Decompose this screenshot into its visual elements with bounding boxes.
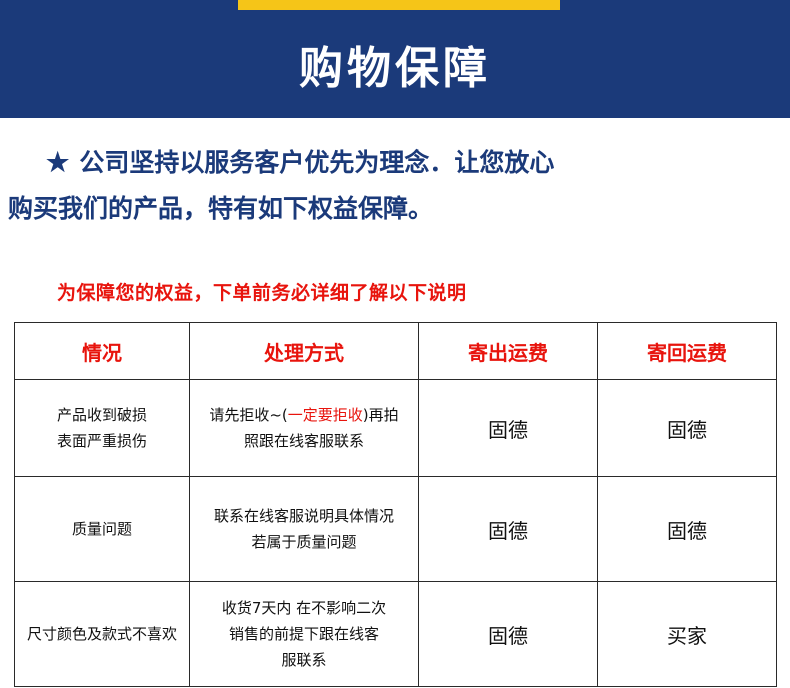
policy-table: 情况 处理方式 寄出运费 寄回运费 产品收到破损 表面严重损伤 请先拒收~(一定… — [14, 322, 777, 687]
table-row: 尺寸颜色及款式不喜欢 收货7天内 在不影响二次 销售的前提下跟在线客 服联系 固… — [15, 582, 777, 687]
row3-action: 收货7天内 在不影响二次 销售的前提下跟在线客 服联系 — [190, 582, 419, 687]
promo-page: 购物保障 ★公司坚持以服务客户优先为理念．让您放心 购买我们的产品，特有如下权益… — [0, 0, 790, 688]
row3-action-line1: 收货7天内 在不影响二次 — [190, 595, 418, 621]
row1-case: 产品收到破损 表面严重损伤 — [15, 380, 190, 477]
row3-ship-back: 买家 — [598, 582, 777, 687]
row1-case-line1: 产品收到破损 — [15, 402, 189, 428]
row1-action-post: )再拍 — [363, 406, 399, 424]
row1-action: 请先拒收~(一定要拒收)再拍 照跟在线客服联系 — [190, 380, 419, 477]
top-strip-yellow — [238, 0, 560, 10]
row2-action-line2: 若属于质量问题 — [190, 529, 418, 555]
row3-action-line2: 销售的前提下跟在线客 — [190, 621, 418, 647]
header-ship-back: 寄回运费 — [598, 323, 777, 380]
star-icon: ★ — [46, 148, 69, 178]
intro-line-1: 公司坚持以服务客户优先为理念．让您放心 — [79, 148, 554, 177]
row2-action-line1: 联系在线客服说明具体情况 — [190, 503, 418, 529]
row1-ship-back: 固德 — [598, 380, 777, 477]
row1-action-line2: 照跟在线客服联系 — [190, 428, 418, 454]
row2-action: 联系在线客服说明具体情况 若属于质量问题 — [190, 477, 419, 582]
row1-ship-out: 固德 — [419, 380, 598, 477]
table-row: 质量问题 联系在线客服说明具体情况 若属于质量问题 固德 固德 — [15, 477, 777, 582]
row3-case: 尺寸颜色及款式不喜欢 — [15, 582, 190, 687]
row1-action-line1: 请先拒收~(一定要拒收)再拍 — [190, 402, 418, 428]
row1-action-highlight: 一定要拒收 — [288, 406, 363, 424]
row1-action-pre: 请先拒收~( — [209, 406, 287, 424]
row3-action-line3: 服联系 — [190, 647, 418, 673]
header-action: 处理方式 — [190, 323, 419, 380]
row2-case-line1: 质量问题 — [15, 516, 189, 542]
row3-ship-out: 固德 — [419, 582, 598, 687]
table-row: 产品收到破损 表面严重损伤 请先拒收~(一定要拒收)再拍 照跟在线客服联系 固德… — [15, 380, 777, 477]
notice-text: 为保障您的权益，下单前务必详细了解以下说明 — [57, 278, 467, 305]
page-title: 购物保障 — [299, 32, 491, 96]
header-ship-out: 寄出运费 — [419, 323, 598, 380]
table-header-row: 情况 处理方式 寄出运费 寄回运费 — [15, 323, 777, 380]
intro-paragraph: ★公司坚持以服务客户优先为理念．让您放心 购买我们的产品，特有如下权益保障。 — [8, 140, 782, 232]
row3-case-line1: 尺寸颜色及款式不喜欢 — [15, 621, 189, 647]
intro-line-2: 购买我们的产品，特有如下权益保障。 — [8, 186, 782, 232]
policy-table-wrapper: 情况 处理方式 寄出运费 寄回运费 产品收到破损 表面严重损伤 请先拒收~(一定… — [14, 322, 776, 687]
row2-ship-back: 固德 — [598, 477, 777, 582]
header-case: 情况 — [15, 323, 190, 380]
row2-ship-out: 固德 — [419, 477, 598, 582]
row1-case-line2: 表面严重损伤 — [15, 428, 189, 454]
banner: 购物保障 — [0, 10, 790, 118]
row2-case: 质量问题 — [15, 477, 190, 582]
